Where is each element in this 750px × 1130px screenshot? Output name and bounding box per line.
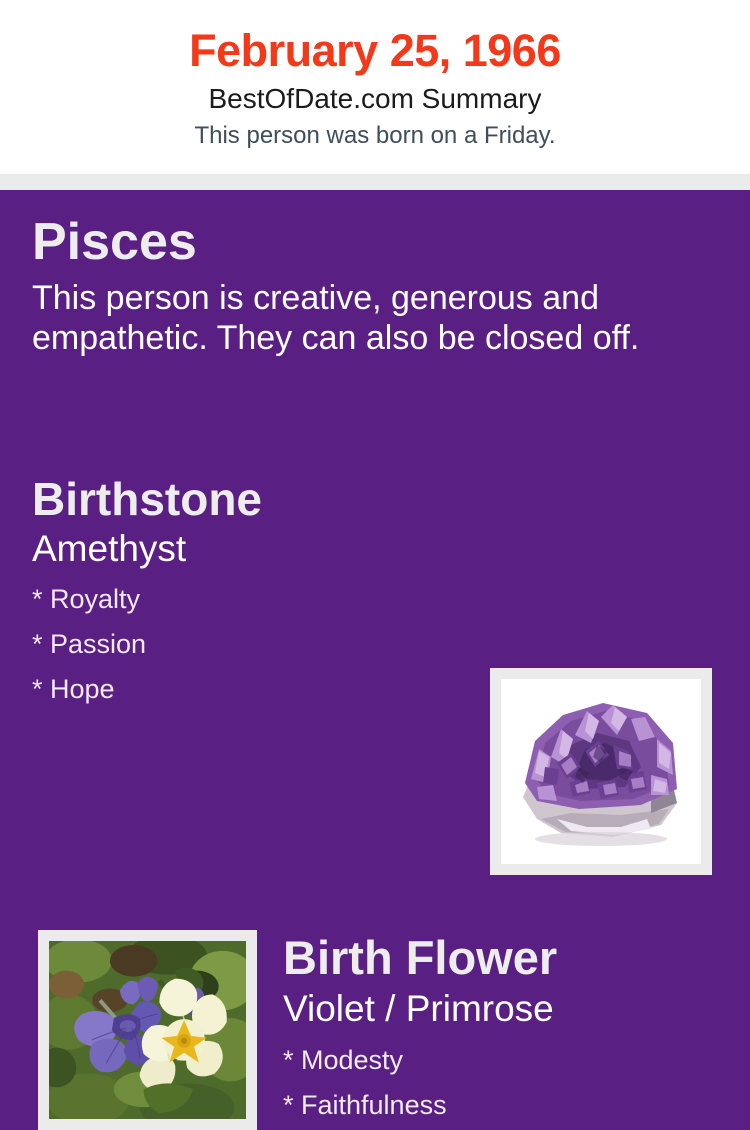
list-item: * Royalty xyxy=(32,577,472,622)
header-divider xyxy=(0,174,750,190)
birthflower-heading: Birth Flower xyxy=(283,930,723,985)
card-header: February 25, 1966 BestOfDate.com Summary… xyxy=(0,0,750,174)
list-item: * Faithfulness xyxy=(283,1083,723,1128)
summary-card: February 25, 1966 BestOfDate.com Summary… xyxy=(0,0,750,1000)
site-name: BestOfDate.com Summary xyxy=(0,80,750,118)
zodiac-section: Pisces This person is creative, generous… xyxy=(32,212,720,358)
summary-body: Pisces This person is creative, generous… xyxy=(0,190,750,1000)
birthflower-name: Violet / Primrose xyxy=(283,986,723,1031)
birthstone-heading: Birthstone xyxy=(32,472,472,526)
zodiac-description: This person is creative, generous and em… xyxy=(32,278,704,358)
list-item: * Hope xyxy=(32,667,472,712)
page-title: February 25, 1966 xyxy=(0,24,750,78)
birthstone-traits: * Royalty * Passion * Hope xyxy=(32,577,472,712)
birthstone-image-frame xyxy=(490,668,712,875)
flower-artwork xyxy=(49,941,246,1119)
birthflower-section: Birth Flower Violet / Primrose * Modesty… xyxy=(283,930,723,1128)
list-item: * Passion xyxy=(32,622,472,667)
amethyst-artwork xyxy=(501,679,701,864)
violet-primrose-photo xyxy=(49,941,246,1119)
list-item: * Modesty xyxy=(283,1038,723,1083)
birth-day-note: This person was born on a Friday. xyxy=(0,119,750,153)
birthstone-name: Amethyst xyxy=(32,527,472,571)
birthflower-traits: * Modesty * Faithfulness xyxy=(283,1038,723,1128)
zodiac-heading: Pisces xyxy=(32,212,720,272)
birthflower-image-frame xyxy=(38,930,257,1130)
birthstone-section: Birthstone Amethyst * Royalty * Passion … xyxy=(32,472,472,712)
amethyst-photo xyxy=(501,679,701,864)
